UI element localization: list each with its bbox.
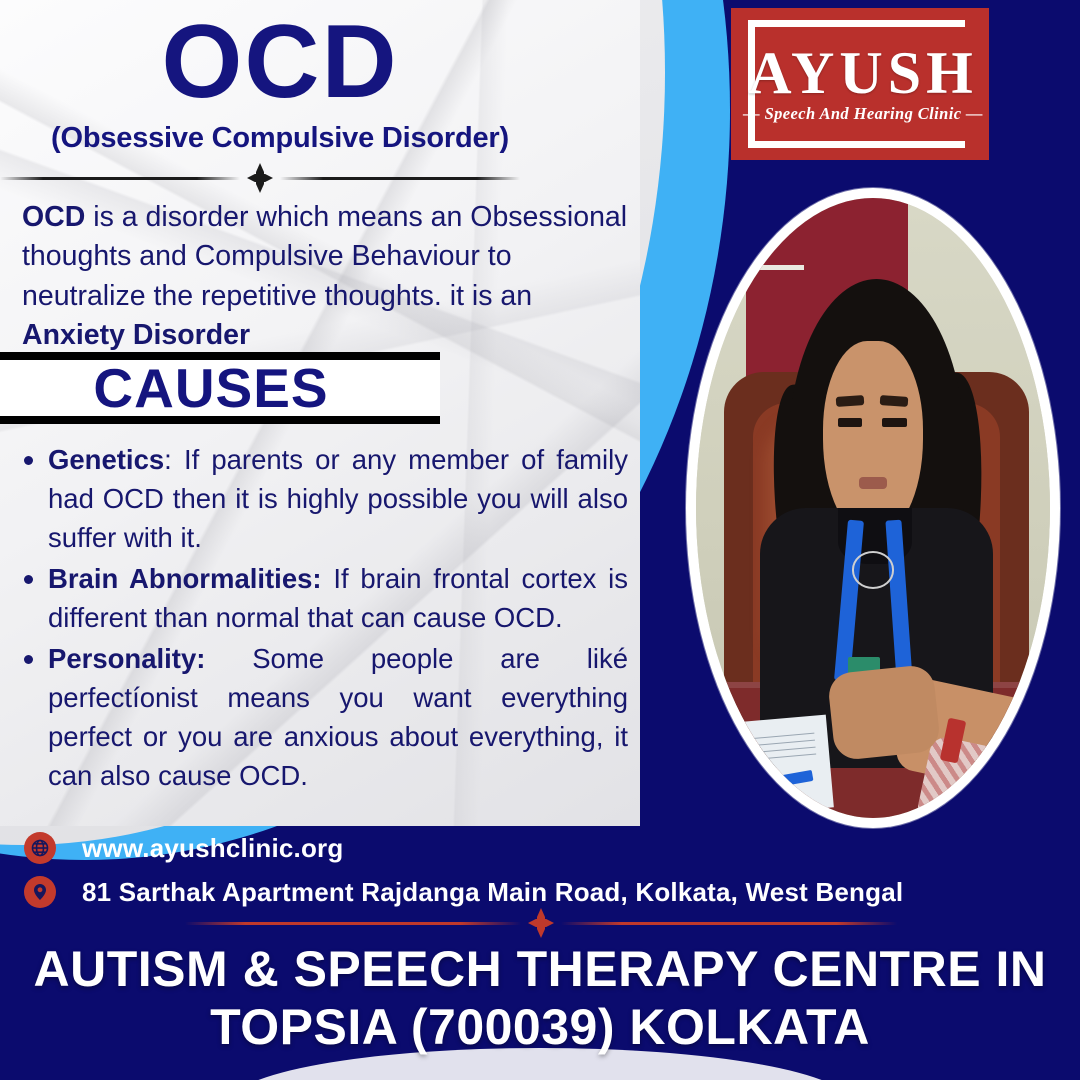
location-pin-icon [24, 876, 56, 908]
photo-eye-left [838, 418, 863, 427]
list-item-term: Genetics [48, 444, 164, 475]
causes-heading: CAUSES [0, 361, 440, 416]
list-item-separator [205, 643, 252, 674]
contact-row-website[interactable]: www.ayushclinic.org [24, 832, 984, 864]
photo-lips [859, 477, 887, 489]
diamond-ornament-icon [247, 163, 273, 193]
divider-bar-left [185, 922, 521, 925]
website-text[interactable]: www.ayushclinic.org [82, 833, 343, 864]
list-item-term: Personality: [48, 643, 205, 674]
intro-lead: OCD [22, 201, 85, 233]
logo-text-group: AYUSH — Speech And Hearing Clinic — [731, 45, 989, 124]
divider-bar-left [0, 177, 240, 180]
photo-paper [720, 714, 834, 816]
intro-body: is a disorder which means an Obsessional… [22, 201, 627, 312]
clinic-logo: AYUSH — Speech And Hearing Clinic — [731, 8, 989, 160]
list-item: Genetics: If parents or any member of fa… [20, 440, 628, 557]
diamond-ornament-icon [528, 908, 554, 938]
list-item: Personality: Some people are liké perfec… [20, 639, 628, 795]
photo-clinician-hands [826, 664, 941, 761]
photo-image [696, 198, 1050, 818]
banner-line-2: TOPSIA (700039) KOLKATA [0, 998, 1080, 1056]
bottom-banner: AUTISM & SPEECH THERAPY CENTRE IN TOPSIA… [0, 940, 1080, 1056]
logo-tagline: — Speech And Hearing Clinic — [737, 104, 989, 124]
intro-emphasis: Anxiety Disorder [22, 319, 250, 351]
intro-paragraph: OCD is a disorder which means an Obsessi… [22, 198, 642, 355]
ornament-divider-top [0, 163, 520, 193]
list-item-separator: : [164, 444, 184, 475]
globe-icon [24, 832, 56, 864]
divider-bar-right [561, 922, 897, 925]
page-subtitle: (Obsessive Compulsive Disorder) [0, 122, 560, 155]
list-item: Brain Abnormalities: If brain frontal co… [20, 559, 628, 637]
banner-line-1: AUTISM & SPEECH THERAPY CENTRE IN [0, 940, 1080, 998]
list-item-separator [322, 563, 334, 594]
causes-heading-band: CAUSES [0, 352, 440, 424]
address-text[interactable]: 81 Sarthak Apartment Rajdanga Main Road,… [82, 877, 903, 908]
clinician-photo-oval [686, 188, 1060, 828]
causes-list: Genetics: If parents or any member of fa… [20, 440, 628, 797]
contact-row-address[interactable]: 81 Sarthak Apartment Rajdanga Main Road,… [24, 876, 984, 908]
photo-necklace [852, 551, 894, 588]
ornament-divider-bottom [185, 908, 897, 938]
photo-eye-right [882, 418, 907, 427]
page-title: OCD [0, 10, 560, 114]
list-item-term: Brain Abnormalities: [48, 563, 322, 594]
poster-canvas: AYUSH — Speech And Hearing Clinic — OCD … [0, 0, 1080, 1080]
contact-block: www.ayushclinic.org 81 Sarthak Apartment… [24, 832, 984, 920]
logo-wordmark: AYUSH [737, 45, 989, 102]
divider-bar-right [280, 177, 520, 180]
